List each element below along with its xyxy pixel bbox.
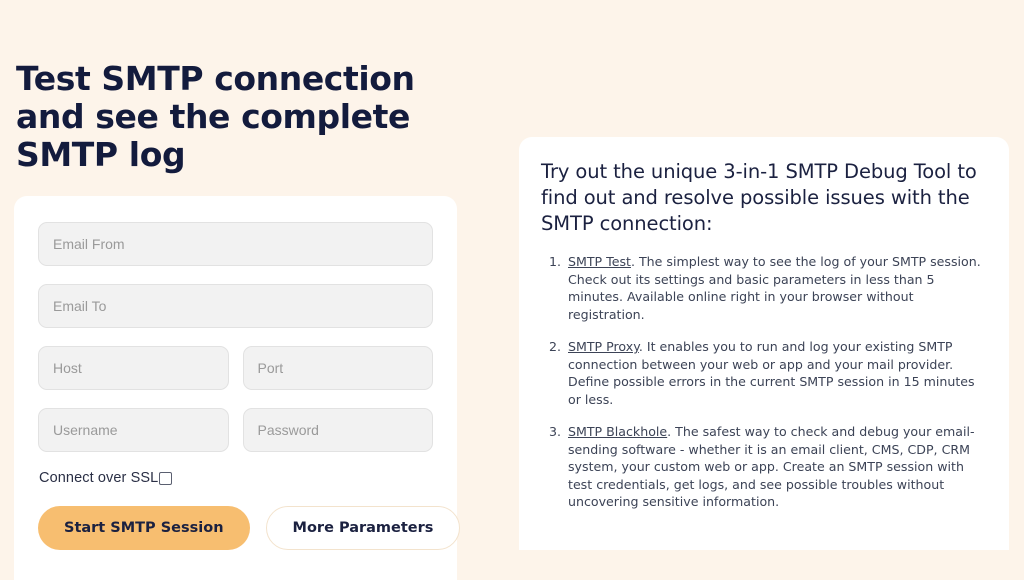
email-to-input[interactable] xyxy=(38,284,433,328)
port-input[interactable] xyxy=(243,346,434,390)
connect-over-ssl-row[interactable]: Connect over SSL xyxy=(38,470,433,486)
connect-over-ssl-label: Connect over SSL xyxy=(39,470,158,486)
password-input[interactable] xyxy=(243,408,434,452)
more-parameters-button[interactable]: More Parameters xyxy=(266,506,461,550)
smtp-test-link[interactable]: SMTP Test xyxy=(568,254,631,269)
list-item: SMTP Blackhole. The safest way to check … xyxy=(565,423,983,511)
username-input[interactable] xyxy=(38,408,229,452)
credentials-row xyxy=(38,408,433,452)
host-input[interactable] xyxy=(38,346,229,390)
host-port-row xyxy=(38,346,433,390)
info-panel: Try out the unique 3-in-1 SMTP Debug Too… xyxy=(519,137,1009,550)
form-actions: Start SMTP Session More Parameters xyxy=(38,506,433,550)
email-from-input[interactable] xyxy=(38,222,433,266)
smtp-blackhole-link[interactable]: SMTP Blackhole xyxy=(568,424,667,439)
page-title: Test SMTP connection and see the complet… xyxy=(14,0,457,174)
info-panel-heading: Try out the unique 3-in-1 SMTP Debug Too… xyxy=(541,159,983,237)
smtp-proxy-link[interactable]: SMTP Proxy xyxy=(568,339,639,354)
left-column: Test SMTP connection and see the complet… xyxy=(14,0,457,580)
list-item: SMTP Test. The simplest way to see the l… xyxy=(565,253,983,323)
checkbox-unchecked-icon[interactable] xyxy=(159,472,172,485)
start-smtp-session-button[interactable]: Start SMTP Session xyxy=(38,506,250,550)
list-item: SMTP Proxy. It enables you to run and lo… xyxy=(565,338,983,408)
smtp-form-card: Connect over SSL Start SMTP Session More… xyxy=(14,196,457,580)
feature-list: SMTP Test. The simplest way to see the l… xyxy=(541,253,983,511)
